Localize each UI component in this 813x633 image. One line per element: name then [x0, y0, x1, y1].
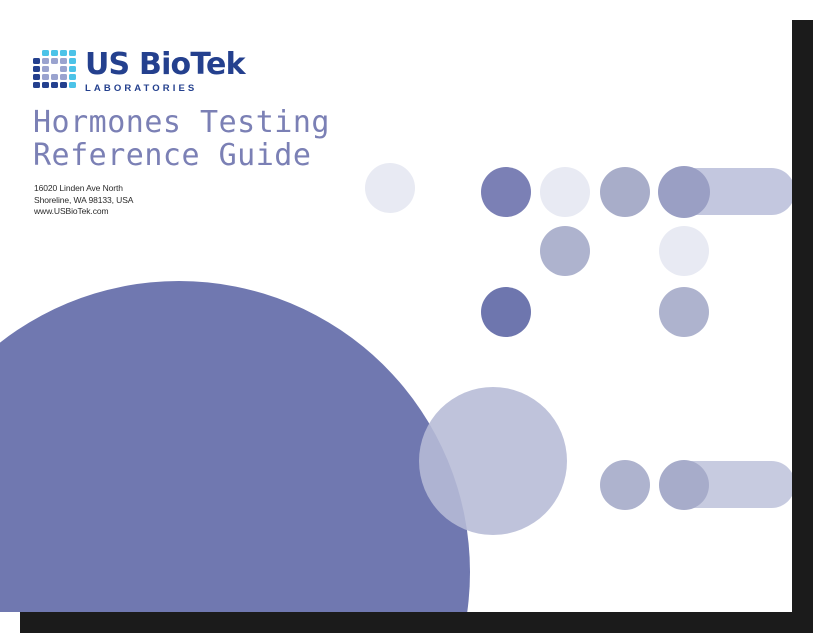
page-title: Hormones Testing Reference Guide [33, 106, 330, 172]
logo-dot-12 [51, 66, 58, 72]
logo-dot-24 [69, 82, 77, 89]
logo-dot-3 [60, 50, 67, 56]
circle-r1-c2 [481, 167, 531, 217]
blob-large-periwinkle [0, 281, 470, 612]
document-page: US BioTek LABORATORIES Hormones Testing … [0, 0, 792, 612]
logo-dot-14 [69, 66, 77, 72]
logo-company-name: US BioTek [85, 50, 245, 80]
logo-dot-16 [42, 74, 49, 80]
logo-dot-4 [69, 50, 77, 56]
circle-r1-c3 [540, 167, 590, 217]
page-shadow-bottom [20, 612, 813, 633]
logo-dot-23 [60, 82, 67, 89]
blob-overlap-light [419, 387, 567, 535]
logo-dot-11 [42, 66, 49, 72]
logo-dot-17 [51, 74, 58, 80]
cover-page-canvas: US BioTek LABORATORIES Hormones Testing … [0, 0, 813, 633]
circle-r3-c2 [659, 287, 709, 337]
logo-dot-1 [42, 50, 49, 56]
logo-dot-9 [69, 58, 77, 64]
circle-r2-c1 [540, 226, 590, 276]
logo-dot-19 [69, 74, 77, 80]
logo-dot-10 [33, 66, 40, 72]
circle-b2 [659, 460, 709, 510]
logo-dot-2 [51, 50, 58, 56]
logo-dot-grid-icon [33, 50, 76, 88]
logo-dot-0 [33, 50, 40, 56]
logo-company-subtitle: LABORATORIES [85, 84, 245, 94]
logo-dot-18 [60, 74, 67, 80]
circle-r1-c4 [600, 167, 650, 217]
page-shadow-right [792, 20, 813, 633]
address-line-1: 16020 Linden Ave North [34, 183, 133, 195]
logo-dot-6 [42, 58, 49, 64]
circle-r1-c1 [365, 163, 415, 213]
logo-dot-8 [60, 58, 67, 64]
logo-dot-13 [60, 66, 67, 72]
circle-b1 [600, 460, 650, 510]
address-block: 16020 Linden Ave North Shoreline, WA 981… [34, 183, 133, 218]
logo-dot-15 [33, 74, 40, 80]
circle-r1-c5 [658, 166, 710, 218]
logo-dot-7 [51, 58, 58, 64]
address-website: www.USBioTek.com [34, 206, 133, 218]
logo-dot-21 [42, 82, 49, 89]
logo-dot-22 [51, 82, 58, 89]
logo-dot-20 [33, 82, 40, 89]
circle-r2-c2 [659, 226, 709, 276]
circle-r3-c1 [481, 287, 531, 337]
logo-dot-5 [33, 58, 40, 64]
address-line-2: Shoreline, WA 98133, USA [34, 195, 133, 207]
logo-wordmark: US BioTek LABORATORIES [85, 50, 245, 94]
us-biotek-logo: US BioTek LABORATORIES [33, 50, 245, 94]
